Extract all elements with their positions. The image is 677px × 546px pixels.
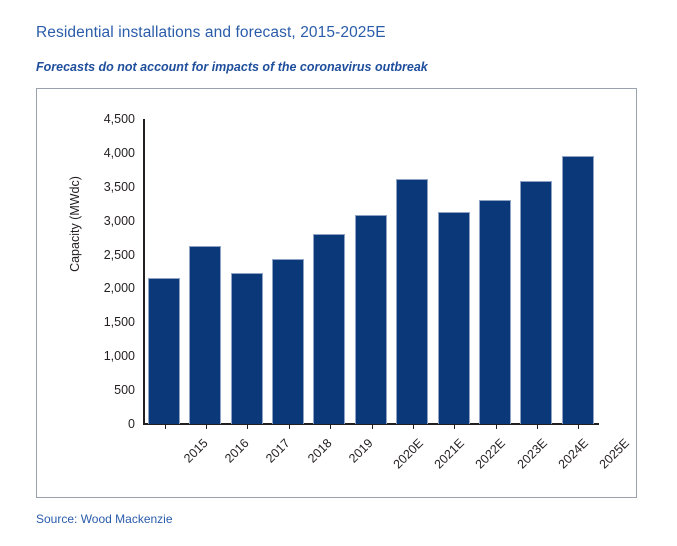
chart-frame: Capacity (MWdc) 05001,0001,5002,0002,500… — [36, 88, 637, 498]
bar-slot — [227, 119, 268, 424]
x-axis-tickmark — [289, 424, 290, 429]
bar[interactable] — [272, 259, 304, 424]
y-axis-tick-label: 1,000 — [104, 349, 135, 363]
bar-series — [144, 119, 599, 424]
bar[interactable] — [148, 278, 180, 424]
y-axis-tick-label: 4,500 — [104, 112, 135, 126]
x-axis-tick-label: 2015 — [181, 436, 211, 466]
x-axis-tick-label: 2024E — [556, 436, 591, 471]
chart-subtitle: Forecasts do not account for impacts of … — [36, 60, 428, 74]
y-axis-tick-label: 2,000 — [104, 281, 135, 295]
x-axis-tickmark — [413, 424, 414, 429]
x-axis-tickmark — [454, 424, 455, 429]
x-axis-tickmark — [537, 424, 538, 429]
y-axis-tick-label: 500 — [114, 383, 135, 397]
bar-slot — [309, 119, 350, 424]
bar-slot — [558, 119, 599, 424]
bar-slot — [434, 119, 475, 424]
y-axis-tick-labels: 05001,0001,5002,0002,5003,0003,5004,0004… — [37, 89, 143, 497]
y-axis-tick-label: 3,000 — [104, 214, 135, 228]
bar-slot — [144, 119, 185, 424]
bar-slot — [392, 119, 433, 424]
x-axis-tick-label: 2018 — [305, 436, 335, 466]
x-axis-tick-label: 2016 — [222, 436, 252, 466]
bar[interactable] — [231, 273, 263, 424]
y-axis-tick-label: 2,500 — [104, 248, 135, 262]
x-axis-tick-label: 2025E — [597, 436, 632, 471]
y-axis-tick-label: 0 — [128, 417, 135, 431]
chart-page: Residential installations and forecast, … — [0, 0, 677, 546]
x-axis-tick-labels: 201520162017201820192020E2021E2022E2023E… — [144, 430, 599, 490]
x-axis-tickmark — [206, 424, 207, 429]
x-axis-tick-label: 2022E — [473, 436, 508, 471]
x-axis-tickmark — [165, 424, 166, 429]
y-axis-tick-label: 4,000 — [104, 146, 135, 160]
x-axis-tickmark — [496, 424, 497, 429]
bar-slot — [268, 119, 309, 424]
bar-slot — [516, 119, 557, 424]
source-note: Source: Wood Mackenzie — [36, 512, 173, 526]
page-title: Residential installations and forecast, … — [36, 24, 386, 42]
x-axis-tick-label: 2023E — [514, 436, 549, 471]
x-axis-tick-label: 2019 — [346, 436, 376, 466]
x-axis-tickmark — [578, 424, 579, 429]
x-axis-tick-label: 2017 — [264, 436, 294, 466]
x-axis-tickmark — [330, 424, 331, 429]
x-axis-tickmark — [247, 424, 248, 429]
x-axis-tickmarks — [144, 424, 599, 429]
plot-area: Capacity (MWdc) 05001,0001,5002,0002,500… — [37, 89, 636, 497]
bar-slot — [475, 119, 516, 424]
x-axis-tickmark — [372, 424, 373, 429]
bar[interactable] — [355, 215, 387, 424]
bar-slot — [185, 119, 226, 424]
y-axis-tick-label: 3,500 — [104, 180, 135, 194]
bar[interactable] — [479, 200, 511, 424]
bar[interactable] — [562, 156, 594, 424]
x-axis-tick-label: 2021E — [431, 436, 466, 471]
bar[interactable] — [520, 181, 552, 424]
bar[interactable] — [438, 212, 470, 424]
bar-slot — [351, 119, 392, 424]
bar[interactable] — [313, 234, 345, 424]
y-axis-tick-label: 1,500 — [104, 315, 135, 329]
x-axis-tick-label: 2020E — [390, 436, 425, 471]
bar[interactable] — [396, 179, 428, 424]
bar[interactable] — [189, 246, 221, 424]
